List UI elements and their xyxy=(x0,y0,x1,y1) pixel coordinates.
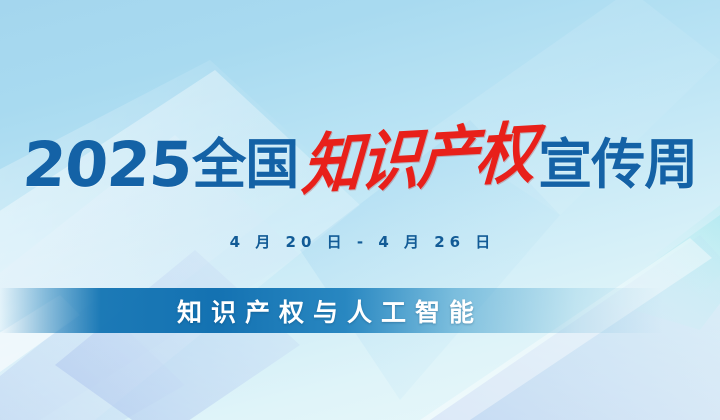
headline-suffix: 宣传周 xyxy=(538,138,697,192)
ip-week-banner: 2025 全国 知识产权 宣传周 4 月 20 日 - 4 月 26 日 知识产… xyxy=(0,0,720,420)
headline-scope: 全国 xyxy=(192,138,298,192)
headline-emphasis-calligraphy: 知识产权 xyxy=(300,120,536,199)
headline: 2025 全国 知识产权 宣传周 xyxy=(0,121,720,209)
subtitle-theme: 知识产权与人工智能 xyxy=(168,293,483,329)
headline-year: 2025 xyxy=(21,134,194,196)
background-geometry xyxy=(0,0,720,420)
subtitle-bar: 知识产权与人工智能 xyxy=(0,288,720,333)
date-range: 4 月 20 日 - 4 月 26 日 xyxy=(0,231,720,252)
